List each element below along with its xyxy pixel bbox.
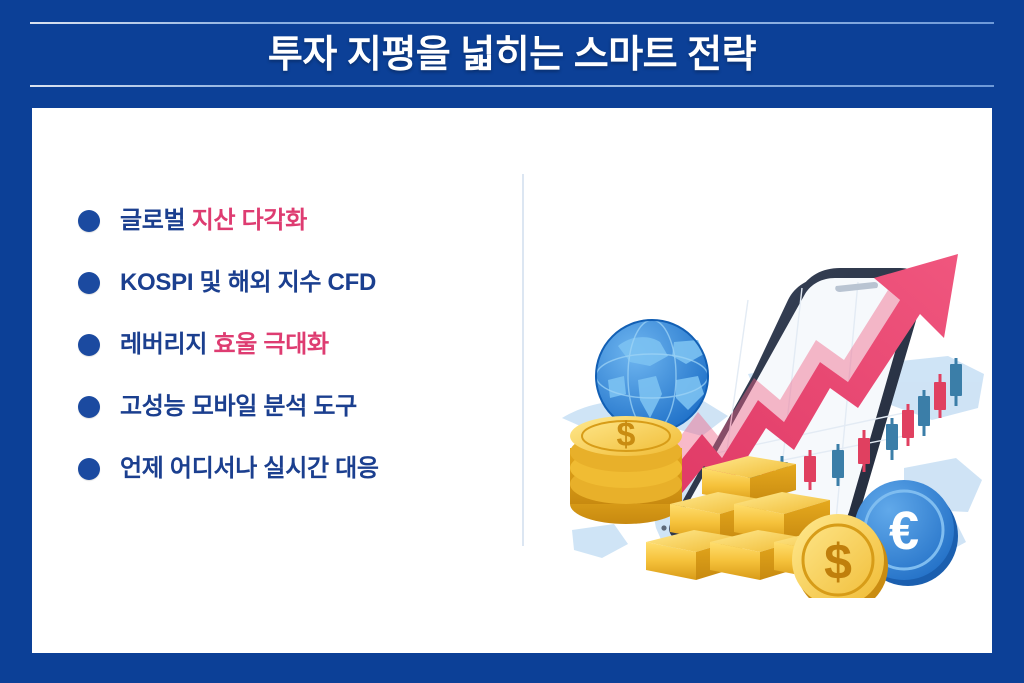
euro-symbol: €	[889, 501, 919, 561]
list-item[interactable]: 레버리지 효울 극대화	[78, 314, 498, 376]
header-rule-bottom-icon	[30, 85, 994, 87]
list-item-highlight: 효울 극대화	[214, 331, 329, 358]
bullet-dot-icon	[78, 334, 100, 356]
dollar-symbol-stack: $	[617, 416, 636, 454]
bullet-dot-icon	[78, 272, 100, 294]
page-title: 투자 지평을 넓히는 스마트 전략	[0, 33, 1024, 77]
bullet-dot-icon	[78, 396, 100, 418]
investment-illustration: $	[552, 168, 992, 598]
list-item-label: KOSPI 및 해외 지수 CFD	[120, 268, 376, 298]
list-item-label: 레버리지 효울 극대화	[120, 330, 329, 360]
list-item[interactable]: KOSPI 및 해외 지수 CFD	[78, 252, 498, 314]
content-card: 글로벌 지산 다각화 KOSPI 및 해외 지수 CFD 레버리지 효울 극대화…	[32, 108, 992, 653]
list-item[interactable]: 글로벌 지산 다각화	[78, 190, 498, 252]
bullet-dot-icon	[78, 210, 100, 232]
slide-root: 투자 지평을 넓히는 스마트 전략 글로벌 지산 다각화 KOSPI 및 해외 …	[0, 0, 1024, 683]
list-item[interactable]: 고성능 모바일 분석 도구	[78, 376, 498, 438]
feature-list: 글로벌 지산 다각화 KOSPI 및 해외 지수 CFD 레버리지 효울 극대화…	[78, 190, 498, 500]
list-item-highlight: 지산 다각화	[192, 207, 307, 234]
list-item-label: 고성능 모바일 분석 도구	[120, 392, 357, 422]
list-item[interactable]: 언제 어디서나 실시간 대응	[78, 438, 498, 500]
list-item-label: 언제 어디서나 실시간 대응	[120, 454, 379, 484]
globe	[596, 320, 708, 432]
vertical-divider	[522, 174, 524, 546]
bullet-dot-icon	[78, 458, 100, 480]
dollar-symbol-coin: $	[824, 534, 852, 590]
coin-stack: $	[570, 416, 682, 524]
list-item-label: 글로벌 지산 다각화	[120, 206, 307, 236]
header-band: 투자 지평을 넓히는 스마트 전략	[0, 0, 1024, 108]
header-rule-top-icon	[30, 22, 994, 24]
